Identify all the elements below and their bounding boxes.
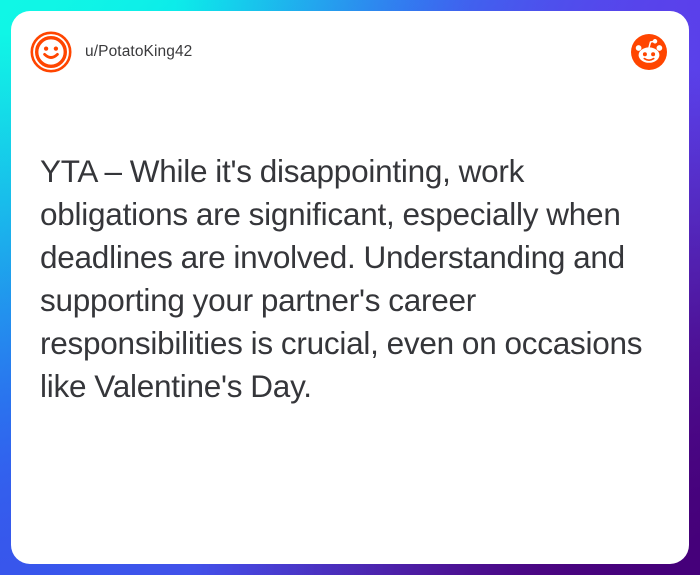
reddit-post-card: u/PotatoKing42 YTA – While it's disappoi… <box>11 11 689 564</box>
gradient-frame: u/PotatoKing42 YTA – While it's disappoi… <box>0 0 700 575</box>
post-header: u/PotatoKing42 <box>11 11 689 93</box>
smiley-face-avatar-icon[interactable] <box>30 31 72 73</box>
author-username: u/PotatoKing42 <box>85 43 192 61</box>
author-block[interactable]: u/PotatoKing42 <box>30 31 631 73</box>
post-body-text: YTA – While it's disappointing, work obl… <box>40 150 652 408</box>
reddit-snoo-icon[interactable] <box>631 34 667 70</box>
